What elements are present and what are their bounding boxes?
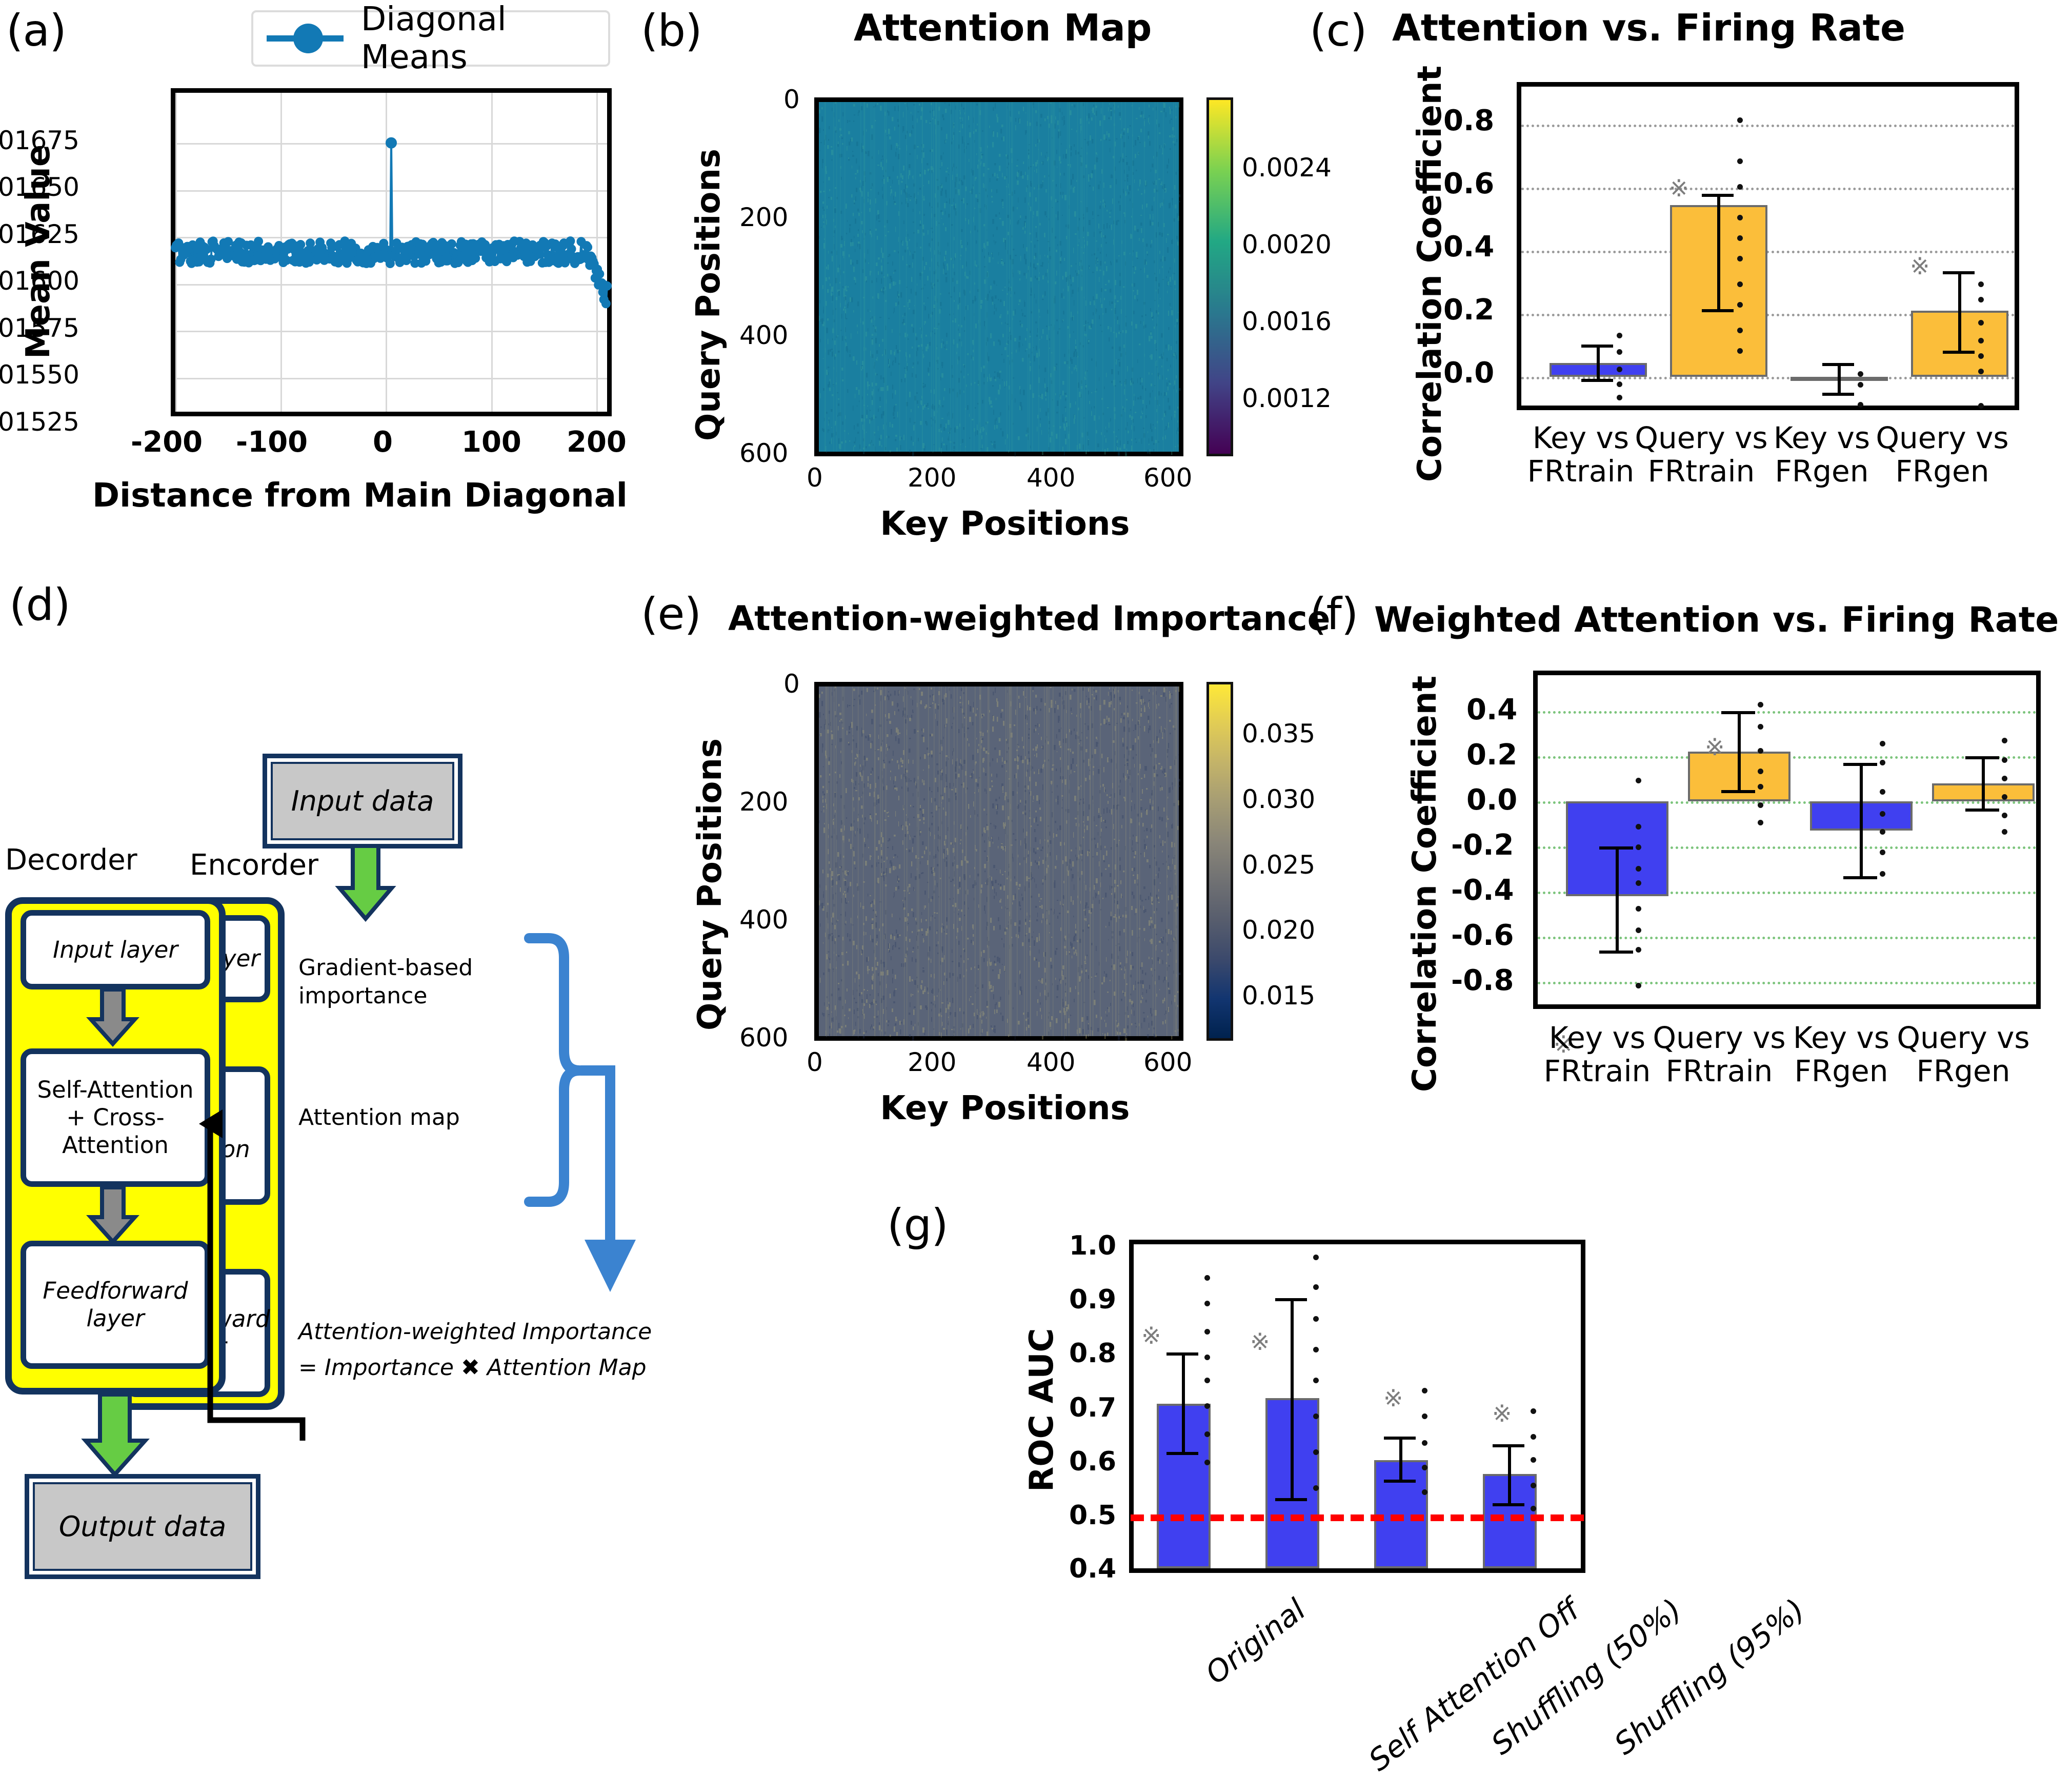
panel-b-label: (b) xyxy=(641,5,702,56)
errorbar-cap xyxy=(1599,951,1633,954)
panel-a-xtick-3: 100 xyxy=(461,426,521,459)
panel-b-xlabel: Key Positions xyxy=(846,505,1164,543)
panel-g-ytick-1: 0.9 xyxy=(1069,1284,1116,1315)
panel-f-ylabel: Correlation Coefficient xyxy=(1406,676,1444,1092)
panel-c-gridline xyxy=(1521,125,2015,127)
panel-f-axes xyxy=(1533,671,2041,1009)
errorbar-cap xyxy=(1721,790,1755,793)
panel-a-ytick-6: 0.001525 xyxy=(0,407,79,437)
errorbar-cap xyxy=(1965,809,1999,812)
panel-b-heatmap xyxy=(814,97,1183,456)
errorbar xyxy=(1958,271,1961,352)
panel-f-gridline xyxy=(1538,982,2036,984)
panel-a-xtick-2: 0 xyxy=(373,426,393,459)
panel-e-xtick-1: 200 xyxy=(908,1047,956,1077)
significance-marker: ※ xyxy=(1250,1328,1270,1356)
panel-a-ytick-5: 0.001550 xyxy=(0,360,79,390)
errorbar-cap xyxy=(1965,756,1999,759)
errorbar-cap xyxy=(1822,393,1854,396)
significance-marker: ※ xyxy=(1141,1322,1161,1349)
panel-g-ytick-5: 0.5 xyxy=(1069,1500,1116,1531)
panel-a-xtick-0: -200 xyxy=(131,426,203,459)
panel-b-xtick-3: 600 xyxy=(1143,463,1192,493)
panel-b-colorbar xyxy=(1206,97,1233,456)
panel-g: (g) ROC AUC xyxy=(846,1143,1718,1600)
panel-g-ytick-3: 0.7 xyxy=(1069,1392,1116,1423)
panel-c-gridline xyxy=(1521,251,2015,253)
panel-c-title: Attention vs. Firing Rate xyxy=(1392,6,1905,49)
errorbar xyxy=(1838,363,1841,395)
errorbar-cap xyxy=(1822,363,1854,366)
panel-e-ylabel: Query Positions xyxy=(691,738,729,1031)
panel-f-ytick-2: 0.0 xyxy=(1466,783,1517,817)
category-label-1: Original xyxy=(1199,1592,1312,1691)
errorbar xyxy=(1738,711,1741,792)
errorbar xyxy=(1182,1352,1185,1455)
panel-b-ylabel: Query Positions xyxy=(690,149,728,441)
panel-c-ytick-1: 0.6 xyxy=(1443,167,1494,200)
panel-a-ytick-0: 0.001675 xyxy=(0,126,79,155)
errorbar-cap xyxy=(1599,846,1633,850)
panel-b-ytick-3: 600 xyxy=(739,438,788,468)
panel-e: (e) Attention-weighted Importance Query … xyxy=(631,579,1297,1159)
category-label-3: Key vs FRgen xyxy=(1753,421,1891,488)
decoder-input-layer: Input layer xyxy=(21,910,210,989)
panel-c-label: (c) xyxy=(1310,5,1366,56)
errorbar-cap xyxy=(1275,1498,1307,1501)
panel-f-gridline xyxy=(1538,711,2036,714)
arrow-input-to-encoder xyxy=(338,846,400,920)
errorbar-cap xyxy=(1581,379,1613,382)
panel-a-ytick-4: 0.001575 xyxy=(0,313,79,343)
errorbar xyxy=(1616,846,1619,953)
errorbar-cap xyxy=(1943,351,1975,354)
panel-e-title: Attention-weighted Importance xyxy=(728,599,1330,638)
panel-b-ytick-1: 200 xyxy=(739,203,788,232)
panel-g-ytick-6: 0.4 xyxy=(1069,1553,1116,1584)
panel-c-gridline xyxy=(1521,188,2015,190)
panel-e-heatmap xyxy=(814,682,1183,1041)
panel-f-ytick-0: 0.4 xyxy=(1466,693,1517,726)
gradient-importance-label: Gradient-based importance xyxy=(298,954,473,1010)
panel-e-label: (e) xyxy=(641,589,701,640)
panel-f-ytick-6: -0.8 xyxy=(1451,964,1514,997)
panel-a-ytick-3: 0.001600 xyxy=(0,266,79,296)
category-label-2: Query vs FRtrain xyxy=(1650,1021,1788,1088)
panel-b-ytick-2: 400 xyxy=(739,320,788,350)
panel-b-xtick-1: 200 xyxy=(908,463,956,493)
panel-e-ytick-1: 200 xyxy=(739,787,788,817)
formula-line-2: = Importance ✖ Attention Map xyxy=(298,1353,647,1382)
panel-e-ytick-0: 0 xyxy=(783,669,800,699)
errorbar-cap xyxy=(1384,1437,1416,1440)
panel-a-legend: Diagonal Means xyxy=(251,10,610,67)
errorbar xyxy=(1291,1298,1294,1501)
errorbar-cap xyxy=(1166,1452,1198,1455)
panel-g-label: (g) xyxy=(887,1200,948,1251)
panel-b-xtick-2: 400 xyxy=(1027,463,1075,493)
errorbar-cap xyxy=(1166,1352,1198,1356)
panel-g-ytick-2: 0.8 xyxy=(1069,1338,1116,1369)
panel-b-ytick-0: 0 xyxy=(783,85,800,114)
panel-f-ytick-5: -0.6 xyxy=(1451,919,1514,952)
significance-marker: ※ xyxy=(1910,252,1930,280)
panel-a-axes xyxy=(171,88,612,416)
panel-b: (b) Attention Map Query Positions 0 200 … xyxy=(631,0,1297,574)
errorbar xyxy=(1982,756,1985,811)
output-data-label: Output data xyxy=(33,1482,252,1571)
panel-c-ytick-4: 0.0 xyxy=(1443,356,1494,390)
category-label-4: Query vs FRgen xyxy=(1894,1021,2033,1088)
errorbar-cap xyxy=(1721,711,1755,714)
panel-f-ytick-3: -0.2 xyxy=(1451,829,1514,862)
significance-marker: ※ xyxy=(1669,174,1689,202)
panel-a-label: (a) xyxy=(6,5,66,56)
panel-g-ytick-0: 1.0 xyxy=(1069,1230,1116,1261)
panel-e-xtick-2: 400 xyxy=(1027,1047,1075,1077)
panel-c-ytick-2: 0.4 xyxy=(1443,230,1494,264)
panel-f-gridline xyxy=(1538,937,2036,939)
significance-marker: ※ xyxy=(1383,1384,1403,1412)
panel-e-xtick-0: 0 xyxy=(807,1047,823,1077)
panel-g-ylabel: ROC AUC xyxy=(1023,1328,1061,1492)
panel-a-xtick-1: -100 xyxy=(236,426,308,459)
panel-f-ytick-4: -0.4 xyxy=(1451,874,1514,907)
errorbar-cap xyxy=(1581,345,1613,348)
errorbar-cap xyxy=(1384,1480,1416,1483)
panel-f-ytick-1: 0.2 xyxy=(1466,738,1517,772)
category-label-4: Query vs FRgen xyxy=(1873,421,2011,488)
panel-c-ytick-0: 0.8 xyxy=(1443,104,1494,137)
input-data-box: Input data xyxy=(263,754,462,848)
decoder-title: Decorder xyxy=(5,843,137,877)
errorbar-cap xyxy=(1702,194,1734,197)
panel-g-axes xyxy=(1129,1240,1585,1573)
category-label-1: Key vs FRtrain xyxy=(1512,421,1650,488)
errorbar-cap xyxy=(1702,309,1734,312)
errorbar-cap xyxy=(1493,1503,1524,1506)
category-label-2: Query vs FRtrain xyxy=(1632,421,1771,488)
errorbar-cap xyxy=(1493,1444,1524,1447)
panel-e-xtick-3: 600 xyxy=(1143,1047,1192,1077)
panel-c-axes xyxy=(1517,82,2019,410)
panel-b-xtick-0: 0 xyxy=(807,463,823,493)
panel-e-ytick-3: 600 xyxy=(739,1023,788,1053)
input-data-label: Input data xyxy=(271,762,454,840)
panel-c-ytick-3: 0.2 xyxy=(1443,293,1494,327)
panel-a: (a) Diagonal Means Mean Value 0.001675 0… xyxy=(0,0,631,574)
errorbar-cap xyxy=(1843,763,1877,766)
panel-f-title: Weighted Attention vs. Firing Rate xyxy=(1374,600,2059,640)
significance-marker: ※ xyxy=(1492,1400,1512,1427)
encoder-title: Encorder xyxy=(190,848,318,882)
errorbar-cap xyxy=(1843,876,1877,879)
formula-line-1: Attention-weighted Importance xyxy=(298,1318,652,1346)
panel-a-xlabel: Distance from Main Diagonal xyxy=(92,477,605,515)
panel-a-ytick-1: 0.001650 xyxy=(0,172,79,202)
panel-a-series xyxy=(175,93,607,412)
panel-e-ytick-2: 400 xyxy=(739,905,788,935)
chance-level-line xyxy=(1131,1514,1584,1521)
category-label-1: Key vs FRtrain xyxy=(1528,1021,1666,1088)
arrow-gray-decoder-1 xyxy=(90,989,141,1045)
errorbar xyxy=(1860,763,1863,878)
errorbar-cap xyxy=(1943,271,1975,274)
panel-f-label: (f) xyxy=(1310,589,1358,640)
panel-g-ytick-4: 0.6 xyxy=(1069,1446,1116,1477)
panel-e-xlabel: Key Positions xyxy=(846,1089,1164,1127)
category-label-3: Key vs FRgen xyxy=(1772,1021,1910,1088)
errorbar-cap xyxy=(1275,1298,1307,1301)
panel-a-xtick-4: 200 xyxy=(567,426,627,459)
panel-f: (f) Weighted Attention vs. Firing Rate C… xyxy=(1297,579,2072,1159)
legend-line-swatch xyxy=(267,35,344,42)
output-data-box: Output data xyxy=(25,1474,260,1579)
panel-a-ytick-2: 0.001625 xyxy=(0,219,79,249)
attention-map-label: Attention map xyxy=(298,1103,460,1132)
panel-d-label: (d) xyxy=(9,579,70,631)
errorbar xyxy=(1597,345,1600,380)
panel-e-colorbar xyxy=(1206,682,1233,1041)
significance-marker: ※ xyxy=(1705,733,1725,761)
panel-b-title: Attention Map xyxy=(854,6,1152,49)
legend-label: Diagonal Means xyxy=(361,1,595,76)
panel-c: (c) Attention vs. Firing Rate Correlatio… xyxy=(1297,0,2072,574)
errorbar xyxy=(1508,1444,1511,1506)
errorbar xyxy=(1399,1437,1402,1483)
errorbar xyxy=(1717,194,1720,311)
encoder-to-decoder-connector xyxy=(92,1113,308,1441)
